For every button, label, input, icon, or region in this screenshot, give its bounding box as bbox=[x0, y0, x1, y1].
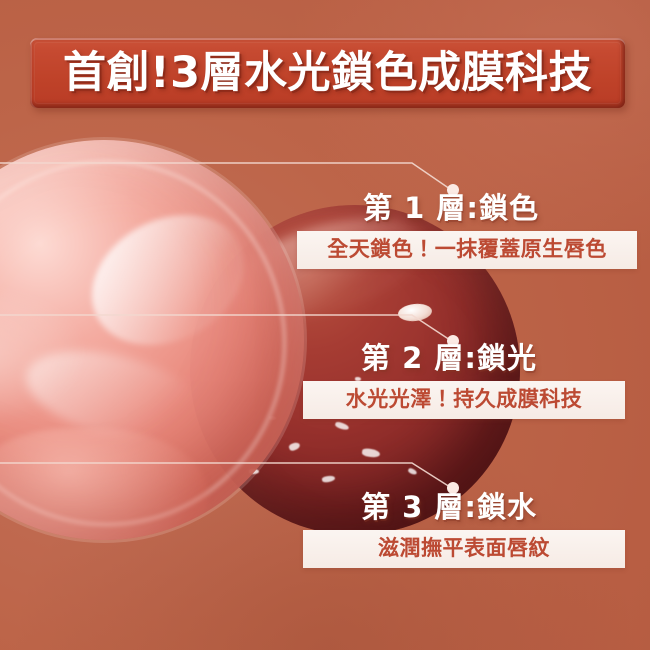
layer-callout-2: 第 2 層:鎖光 水光光澤！持久成膜科技 bbox=[303, 343, 625, 419]
layer-1-heading: 第 1 層:鎖色 bbox=[300, 193, 637, 225]
page-title: 首創!3層水光鎖色成膜科技 bbox=[63, 52, 592, 95]
title-banner: 首創!3層水光鎖色成膜科技 bbox=[30, 38, 625, 108]
layer-3-description-bar: 滋潤撫平表面唇紋 bbox=[303, 530, 625, 568]
layer-callout-1: 第 1 層:鎖色 全天鎖色！一抹覆蓋原生唇色 bbox=[300, 193, 637, 269]
poster-canvas: 第 1 層:鎖色 全天鎖色！一抹覆蓋原生唇色 第 2 層:鎖光 水光光澤！持久成… bbox=[0, 0, 650, 650]
layer-2-heading: 第 2 層:鎖光 bbox=[303, 343, 625, 375]
layer-2-description-bar: 水光光澤！持久成膜科技 bbox=[303, 381, 625, 419]
layer-2-description: 水光光澤！持久成膜科技 bbox=[346, 389, 583, 410]
layer-3-heading: 第 3 層:鎖水 bbox=[303, 492, 625, 524]
gloss-highlight-top bbox=[69, 189, 267, 370]
highlight-dot-icon bbox=[397, 302, 433, 322]
layer-3-description: 滋潤撫平表面唇紋 bbox=[378, 538, 550, 559]
gloss-drip bbox=[0, 428, 208, 540]
layer-1-description-bar: 全天鎖色！一抹覆蓋原生唇色 bbox=[297, 231, 637, 269]
layer-1-description: 全天鎖色！一抹覆蓋原生唇色 bbox=[327, 239, 607, 260]
layer-callout-3: 第 3 層:鎖水 滋潤撫平表面唇紋 bbox=[303, 492, 625, 568]
